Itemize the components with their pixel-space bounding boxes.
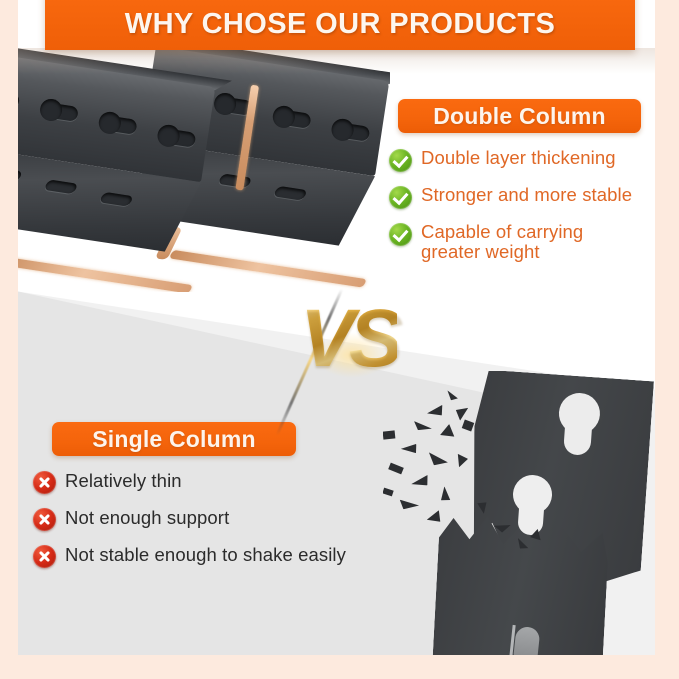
pros-list: Double layer thickening Stronger and mor… [389, 148, 651, 262]
debris-shard [410, 475, 430, 489]
list-item: Capable of carrying greater weight [389, 222, 651, 262]
versus-badge: VS [300, 298, 410, 398]
debris-shard [383, 430, 395, 439]
double-column-steel-rails-photo [18, 48, 390, 292]
cons-item-label: Relatively thin [65, 470, 182, 491]
list-item: Not stable enough to shake easily [33, 544, 413, 568]
debris-shard [444, 390, 459, 402]
keyhole-slot [106, 116, 138, 135]
check-circle-icon [389, 186, 412, 209]
cons-item-label: Not enough support [65, 507, 229, 528]
flange-slot [18, 167, 23, 182]
keyhole-slot [164, 128, 196, 147]
product-comparison-infographic: VS Double Column Double layer thickening… [0, 0, 679, 679]
debris-shard [426, 452, 449, 468]
debris-shard [438, 424, 457, 443]
debris-shard [436, 486, 454, 504]
single-column-badge-label: Single Column [92, 426, 256, 453]
debris-shard [462, 420, 474, 432]
title-banner: WHY CHOSE OUR PRODUCTS [45, 0, 635, 50]
cons-list: Relatively thin Not enough support Not s… [33, 470, 413, 568]
keyhole-slot [280, 110, 312, 129]
pros-item-label: Double layer thickening [421, 148, 616, 168]
list-item: Not enough support [33, 507, 413, 531]
content-plate: VS Double Column Double layer thickening… [18, 0, 655, 655]
flange-slot [99, 192, 134, 207]
debris-shard [453, 451, 470, 468]
list-item: Double layer thickening [389, 148, 651, 172]
check-circle-icon [389, 223, 412, 246]
panel-knob [513, 626, 540, 655]
cross-circle-icon [33, 471, 56, 494]
debris-shard [425, 510, 443, 526]
panel-keyhole-upper [563, 398, 594, 456]
flange-slot [273, 186, 308, 201]
cons-item-label: Not stable enough to shake easily [65, 544, 346, 565]
panel-keyhole-lower [517, 482, 546, 536]
debris-shard [412, 421, 432, 433]
list-item: Relatively thin [33, 470, 413, 494]
double-column-badge: Double Column [398, 99, 641, 133]
cross-circle-icon [33, 545, 56, 568]
debris-shard [400, 444, 417, 455]
single-column-badge: Single Column [52, 422, 296, 456]
double-column-badge-label: Double Column [433, 103, 606, 130]
single-column-shattered-panel-photo [383, 371, 655, 655]
keyhole-slot [47, 103, 79, 122]
debris-shard [426, 405, 445, 419]
pros-item-label: Stronger and more stable [421, 185, 632, 205]
keyhole-slot [18, 90, 20, 109]
flange-slot [43, 179, 78, 194]
list-item: Stronger and more stable [389, 185, 651, 209]
versus-label: VS [300, 298, 397, 380]
keyhole-slot [338, 122, 370, 141]
check-circle-icon [389, 149, 412, 172]
copper-edge-horizontal [18, 256, 193, 292]
page-title: WHY CHOSE OUR PRODUCTS [125, 10, 555, 50]
cross-circle-icon [33, 508, 56, 531]
pros-item-label: Capable of carrying greater weight [421, 222, 583, 262]
steel-rail-front [18, 52, 251, 292]
debris-shard [454, 403, 472, 420]
